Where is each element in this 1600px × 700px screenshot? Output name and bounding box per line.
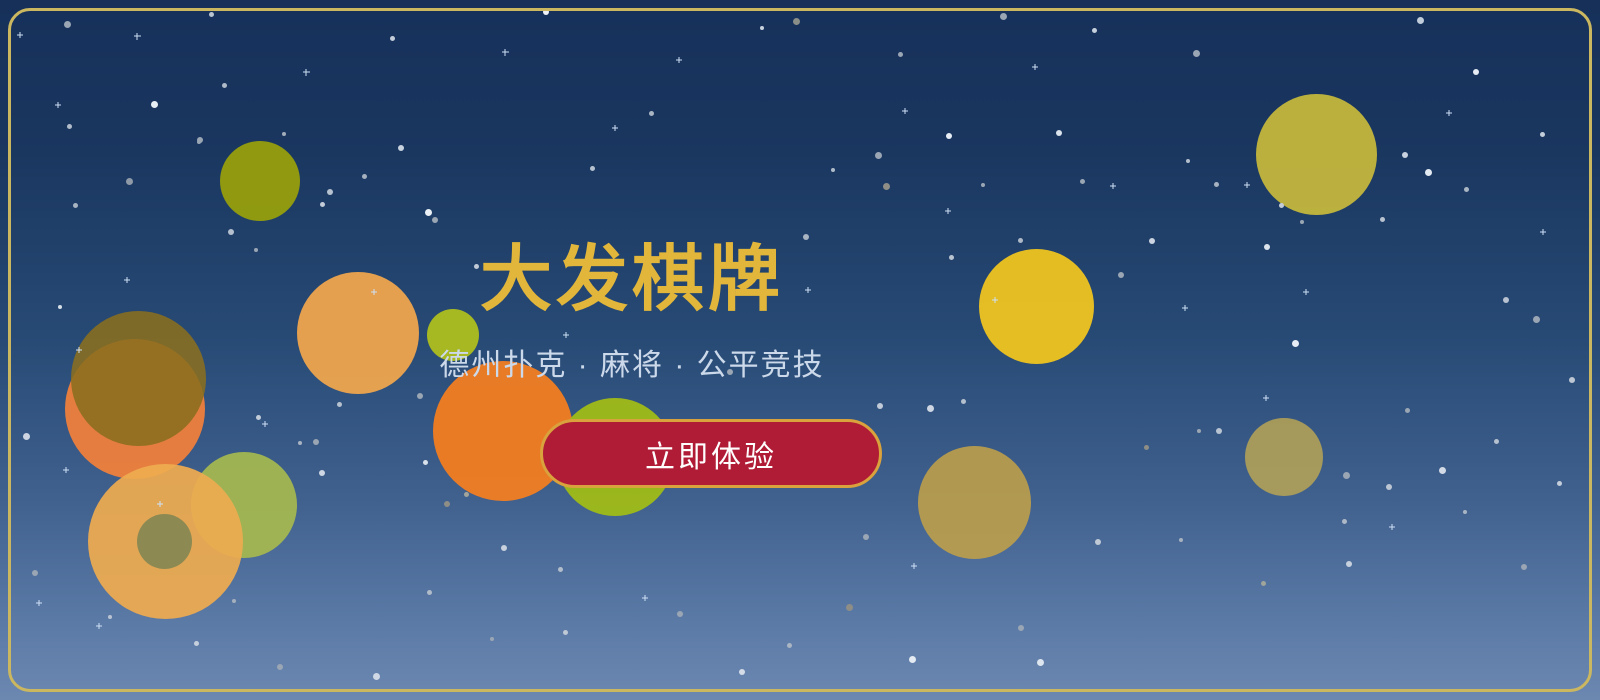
star-dot-icon (1557, 481, 1562, 486)
star-dot-icon (1144, 445, 1149, 450)
star-dot-icon (877, 403, 883, 409)
star-dot-icon (1343, 472, 1350, 479)
star-sparkle-icon (992, 297, 998, 303)
promo-hero-banner: 大发棋牌 德州扑克 · 麻将 · 公平竞技 立即体验 (0, 0, 1600, 700)
star-dot-icon (543, 9, 549, 15)
star-dot-icon (946, 133, 952, 139)
star-dot-icon (649, 111, 654, 116)
star-dot-icon (961, 399, 966, 404)
star-sparkle-icon (17, 32, 23, 38)
star-dot-icon (883, 183, 890, 190)
star-dot-icon (793, 18, 800, 25)
star-sparkle-icon (134, 33, 141, 40)
star-sparkle-icon (157, 501, 163, 507)
star-dot-icon (209, 12, 214, 17)
star-sparkle-icon (911, 563, 917, 569)
star-dot-icon (1402, 152, 1408, 158)
star-dot-icon (1000, 13, 1007, 20)
star-dot-icon (254, 248, 258, 252)
star-dot-icon (1292, 340, 1299, 347)
star-dot-icon (1193, 50, 1200, 57)
star-dot-icon (1342, 519, 1347, 524)
star-dot-icon (1473, 69, 1479, 75)
star-sparkle-icon (945, 208, 951, 214)
star-dot-icon (1533, 316, 1540, 323)
star-dot-icon (1118, 272, 1124, 278)
star-dot-icon (1149, 238, 1155, 244)
star-dot-icon (1080, 179, 1085, 184)
star-dot-icon (558, 567, 563, 572)
star-dot-icon (256, 415, 261, 420)
star-sparkle-icon (805, 287, 811, 293)
star-dot-icon (1279, 203, 1284, 208)
star-dot-icon (1197, 429, 1201, 433)
star-dot-icon (373, 673, 380, 680)
star-dot-icon (73, 203, 78, 208)
star-dot-icon (1521, 564, 1527, 570)
star-dot-icon (58, 305, 62, 309)
star-dot-icon (927, 405, 934, 412)
star-dot-icon (515, 268, 521, 274)
star-dot-icon (727, 369, 733, 375)
star-sparkle-icon (76, 347, 82, 353)
star-sparkle-icon (1244, 182, 1250, 188)
star-dot-icon (1463, 510, 1467, 514)
star-sparkle-icon (124, 277, 130, 283)
star-dot-icon (1380, 217, 1385, 222)
star-sparkle-icon (642, 595, 648, 601)
star-sparkle-icon (1446, 110, 1452, 116)
star-dot-icon (151, 101, 158, 108)
star-dot-icon (1540, 132, 1545, 137)
star-dot-icon (739, 669, 745, 675)
star-sparkle-icon (36, 600, 42, 606)
star-dot-icon (1037, 659, 1044, 666)
star-dot-icon (32, 570, 38, 576)
star-dot-icon (277, 664, 283, 670)
star-sparkle-icon (676, 57, 682, 63)
star-dot-icon (197, 140, 201, 144)
star-dot-icon (67, 124, 72, 129)
star-dot-icon (598, 290, 605, 297)
star-dot-icon (64, 21, 71, 28)
star-dot-icon (427, 590, 432, 595)
star-dot-icon (1386, 484, 1392, 490)
star-dot-icon (313, 439, 319, 445)
star-dot-icon (417, 393, 423, 399)
star-dot-icon (1300, 220, 1304, 224)
star-dot-icon (423, 460, 428, 465)
star-sparkle-icon (502, 49, 509, 56)
try-now-button-label: 立即体验 (645, 432, 777, 476)
star-dot-icon (846, 604, 853, 611)
star-dot-icon (390, 36, 395, 41)
star-dot-icon (1569, 377, 1575, 383)
star-sparkle-icon (1263, 395, 1269, 401)
star-dot-icon (1261, 581, 1266, 586)
star-dot-icon (1216, 428, 1222, 434)
star-dot-icon (298, 441, 302, 445)
star-sparkle-icon (563, 332, 569, 338)
star-dot-icon (803, 234, 809, 240)
star-dot-icon (398, 145, 404, 151)
star-sparkle-icon (1540, 229, 1546, 235)
star-sparkle-icon (1303, 289, 1309, 295)
star-sparkle-icon (262, 421, 268, 427)
star-dot-icon (875, 152, 882, 159)
star-dot-icon (337, 402, 342, 407)
star-dot-icon (501, 545, 507, 551)
star-dot-icon (1214, 182, 1219, 187)
starfield-decoration-layer (0, 0, 1600, 700)
star-dot-icon (909, 656, 916, 663)
star-sparkle-icon (612, 125, 618, 131)
star-dot-icon (1405, 408, 1410, 413)
star-dot-icon (1264, 244, 1270, 250)
star-dot-icon (563, 630, 568, 635)
star-sparkle-icon (1182, 305, 1188, 311)
star-dot-icon (247, 389, 252, 394)
star-dot-icon (362, 174, 367, 179)
star-sparkle-icon (96, 623, 102, 629)
star-dot-icon (432, 217, 438, 223)
star-dot-icon (1179, 538, 1183, 542)
star-sparkle-icon (55, 102, 61, 108)
star-dot-icon (898, 52, 903, 57)
star-sparkle-icon (1032, 64, 1038, 70)
star-sparkle-icon (902, 108, 908, 114)
star-sparkle-icon (371, 289, 377, 295)
star-dot-icon (108, 615, 112, 619)
star-dot-icon (949, 255, 954, 260)
star-dot-icon (831, 168, 835, 172)
star-dot-icon (1439, 467, 1446, 474)
star-dot-icon (1056, 130, 1062, 136)
star-dot-icon (1186, 159, 1190, 163)
star-dot-icon (222, 83, 227, 88)
star-sparkle-icon (63, 467, 69, 473)
star-sparkle-icon (1389, 524, 1395, 530)
star-dot-icon (194, 641, 199, 646)
star-dot-icon (590, 166, 595, 171)
star-dot-icon (1425, 169, 1432, 176)
star-dot-icon (444, 501, 450, 507)
star-dot-icon (1346, 561, 1352, 567)
star-dot-icon (1092, 28, 1097, 33)
star-dot-icon (23, 433, 30, 440)
star-dot-icon (981, 183, 985, 187)
star-dot-icon (787, 643, 792, 648)
star-dot-icon (677, 611, 683, 617)
star-dot-icon (464, 492, 469, 497)
star-dot-icon (327, 189, 333, 195)
star-dot-icon (228, 229, 234, 235)
star-dot-icon (425, 209, 432, 216)
star-sparkle-icon (1110, 183, 1116, 189)
star-dot-icon (1503, 297, 1509, 303)
star-dot-icon (232, 599, 236, 603)
star-dot-icon (1095, 539, 1101, 545)
star-dot-icon (1494, 439, 1499, 444)
star-dot-icon (474, 264, 479, 269)
star-dot-icon (1018, 625, 1024, 631)
star-dot-icon (1417, 17, 1424, 24)
star-dot-icon (1018, 238, 1023, 243)
star-dot-icon (760, 26, 764, 30)
star-dot-icon (490, 637, 494, 641)
star-dot-icon (1464, 187, 1469, 192)
star-dot-icon (320, 202, 325, 207)
star-dot-icon (319, 470, 325, 476)
try-now-button[interactable]: 立即体验 (540, 419, 882, 488)
star-dot-icon (863, 534, 869, 540)
star-dot-icon (126, 178, 133, 185)
star-dot-icon (282, 132, 286, 136)
star-sparkle-icon (303, 69, 310, 76)
